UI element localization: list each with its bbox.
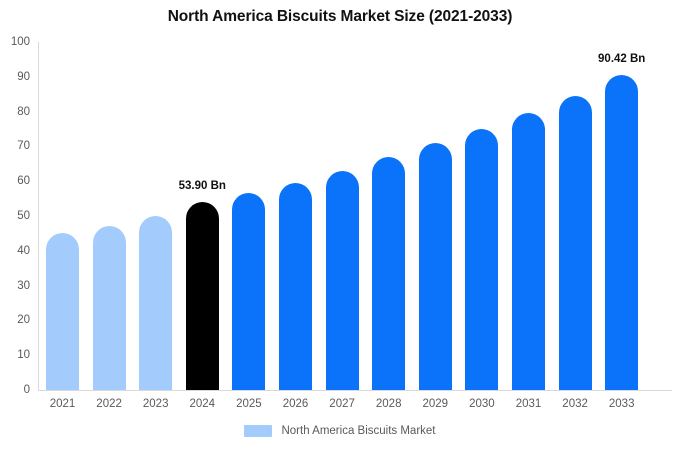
plot-area: 53.90 Bn90.42 Bn — [38, 42, 672, 390]
bar-2032[interactable] — [559, 96, 592, 390]
x-axis-tick-2022: 2022 — [93, 398, 126, 410]
y-axis-tick-50: 50 — [0, 210, 30, 222]
bar-slot-2031[interactable] — [512, 42, 545, 390]
x-axis-line — [38, 390, 672, 391]
bar-2030[interactable] — [465, 129, 498, 390]
x-axis-tick-2033: 2033 — [605, 398, 638, 410]
bar-2025[interactable] — [232, 193, 265, 390]
y-axis-tick-0: 0 — [0, 384, 30, 396]
x-axis-tick-2027: 2027 — [326, 398, 359, 410]
x-axis-tick-2026: 2026 — [279, 398, 312, 410]
bar-slot-2033[interactable]: 90.42 Bn — [605, 42, 638, 390]
bar-slot-2030[interactable] — [465, 42, 498, 390]
bar-value-label-2033: 90.42 Bn — [598, 53, 645, 65]
x-axis-tick-2032: 2032 — [559, 398, 592, 410]
x-axis-tick-2030: 2030 — [465, 398, 498, 410]
bar-2024[interactable] — [186, 202, 219, 390]
x-axis-tick-2021: 2021 — [46, 398, 79, 410]
bar-slot-2032[interactable] — [559, 42, 592, 390]
x-axis-tick-2031: 2031 — [512, 398, 545, 410]
y-axis-tick-90: 90 — [0, 71, 30, 83]
bar-2033[interactable] — [605, 75, 638, 390]
x-axis-tick-2023: 2023 — [139, 398, 172, 410]
y-axis-tick-70: 70 — [0, 140, 30, 152]
bar-slot-2025[interactable] — [232, 42, 265, 390]
y-axis-tick-100: 100 — [0, 36, 30, 48]
x-axis-tick-2028: 2028 — [372, 398, 405, 410]
bar-slot-2024[interactable]: 53.90 Bn — [186, 42, 219, 390]
bar-2026[interactable] — [279, 183, 312, 390]
bar-slot-2021[interactable] — [46, 42, 79, 390]
bar-value-label-2024: 53.90 Bn — [179, 180, 226, 192]
chart-legend: North America Biscuits Market — [0, 425, 680, 437]
bar-2023[interactable] — [139, 216, 172, 390]
y-axis-tick-30: 30 — [0, 280, 30, 292]
bar-slot-2028[interactable] — [372, 42, 405, 390]
y-axis-tick-40: 40 — [0, 245, 30, 257]
bar-slot-2022[interactable] — [93, 42, 126, 390]
bar-slot-2027[interactable] — [326, 42, 359, 390]
chart-title: North America Biscuits Market Size (2021… — [0, 8, 680, 26]
y-axis-tick-80: 80 — [0, 106, 30, 118]
bar-2028[interactable] — [372, 157, 405, 390]
chart-container: North America Biscuits Market Size (2021… — [0, 0, 680, 450]
y-axis-tick-60: 60 — [0, 175, 30, 187]
y-axis-tick-10: 10 — [0, 349, 30, 361]
x-axis-tick-2029: 2029 — [419, 398, 452, 410]
legend-label-north-america-biscuits-market: North America Biscuits Market — [281, 425, 435, 437]
y-axis-tick-20: 20 — [0, 314, 30, 326]
bar-2021[interactable] — [46, 233, 79, 390]
bar-slot-2023[interactable] — [139, 42, 172, 390]
bar-series: 53.90 Bn90.42 Bn — [38, 42, 672, 390]
x-axis-tick-2024: 2024 — [186, 398, 219, 410]
bar-2029[interactable] — [419, 143, 452, 390]
bar-2027[interactable] — [326, 171, 359, 390]
bar-2022[interactable] — [93, 226, 126, 390]
bar-slot-2029[interactable] — [419, 42, 452, 390]
x-axis-tick-2025: 2025 — [232, 398, 265, 410]
bar-2031[interactable] — [512, 113, 545, 390]
legend-swatch-north-america-biscuits-market — [244, 425, 272, 437]
bar-slot-2026[interactable] — [279, 42, 312, 390]
